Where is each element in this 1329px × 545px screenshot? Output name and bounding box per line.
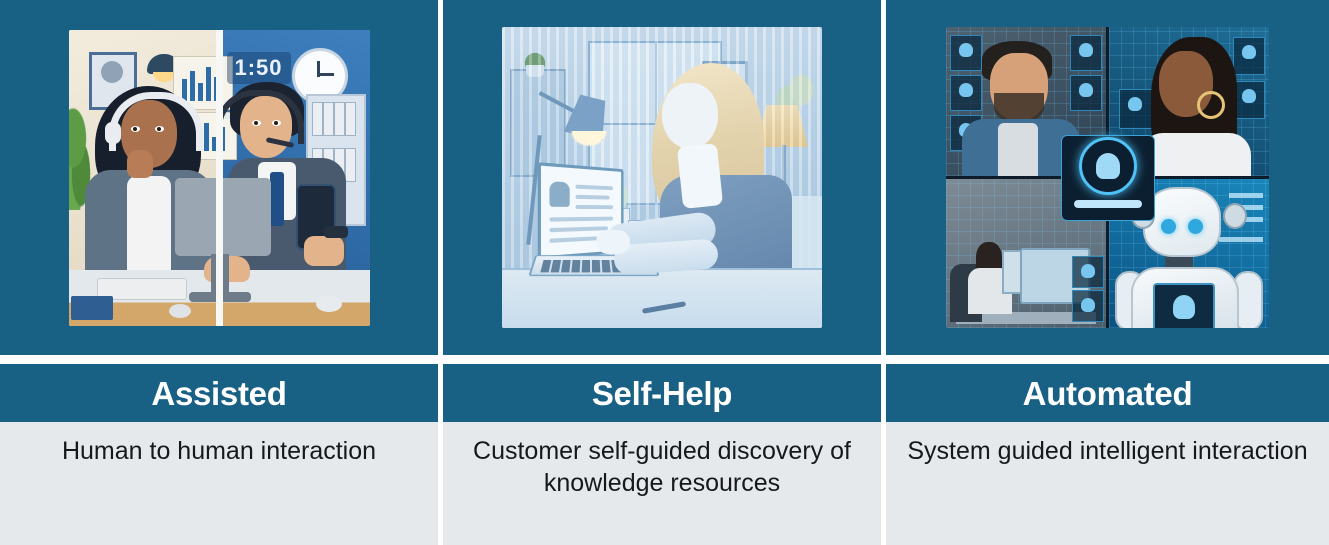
description-band-automated: System guided intelligent interaction: [886, 422, 1329, 545]
desk-lamp-light: [570, 131, 608, 147]
column-description-automated: System guided intelligent interaction: [898, 436, 1317, 468]
earring-icon: [1197, 91, 1225, 119]
agent-man-hand: [304, 236, 344, 266]
column-title-automated: Automated: [1023, 377, 1193, 410]
robot-chest-display: [1153, 283, 1215, 328]
column-description-self-help: Customer self-guided discovery of knowle…: [455, 436, 869, 499]
column-title-assisted: Assisted: [151, 377, 286, 410]
row-divider: [886, 355, 1329, 364]
title-band-self-help: Self-Help: [443, 364, 881, 422]
agent-man-tie: [270, 172, 284, 226]
title-band-assisted: Assisted: [0, 364, 438, 422]
column-description-assisted: Human to human interaction: [12, 436, 426, 468]
image-panel-self-help: [443, 0, 881, 355]
column-automated: Automated System guided intelligent inte…: [886, 0, 1329, 545]
holographic-user-hud: [1061, 135, 1155, 221]
hud-progress-bar: [1074, 200, 1142, 208]
profile-thumbnail-7: [1233, 81, 1265, 119]
comparison-table: 1:50 TECHNICAL SUPPORT: [0, 0, 1329, 545]
title-band-automated: Automated: [886, 364, 1329, 422]
automated-ai-illustration: [946, 27, 1269, 328]
profile-thumbnail-8: [1072, 256, 1104, 288]
image-panel-assisted: 1:50 TECHNICAL SUPPORT: [0, 0, 438, 355]
customer-face: [662, 83, 718, 149]
profile-thumbnail-2: [950, 75, 982, 111]
row-divider: [0, 355, 438, 364]
user-woman-body: [1141, 133, 1251, 176]
image-panel-automated: [886, 0, 1329, 355]
profile-thumbnail-1: [950, 35, 982, 71]
screen-avatar-icon: [549, 181, 569, 207]
column-self-help: Self-Help Customer self-guided discovery…: [443, 0, 881, 545]
profile-thumbnail-9: [1072, 290, 1104, 322]
assisted-support-illustration: 1:50 TECHNICAL SUPPORT: [69, 30, 370, 326]
customer-blouse: [677, 143, 723, 209]
self-help-illustration: [502, 27, 822, 328]
robot-head-icon: [1143, 187, 1221, 257]
split-divider: [216, 30, 223, 326]
profile-thumbnail-5: [1070, 75, 1102, 111]
robot-ear-right: [1223, 203, 1247, 229]
column-container: 1:50 TECHNICAL SUPPORT: [0, 0, 1329, 545]
user-man-shirt: [998, 123, 1038, 176]
headset-earcup: [105, 122, 121, 144]
hud-user-avatar-icon: [1096, 153, 1120, 179]
mouse-icon: [169, 304, 191, 318]
mouse-icon-2: [316, 296, 342, 312]
desk-surface: [502, 268, 822, 328]
agent-woman-hand: [127, 150, 153, 178]
profile-thumbnail-6: [1233, 37, 1265, 75]
books-stack: [71, 296, 113, 320]
column-title-self-help: Self-Help: [592, 377, 732, 410]
description-band-self-help: Customer self-guided discovery of knowle…: [443, 422, 881, 545]
column-assisted: 1:50 TECHNICAL SUPPORT: [0, 0, 438, 545]
row-divider: [443, 355, 881, 364]
profile-thumbnail-4: [1070, 35, 1102, 71]
call-timer-display: 1:50: [227, 52, 291, 84]
description-band-assisted: Human to human interaction: [0, 422, 438, 545]
wristwatch-icon: [324, 226, 348, 238]
customer-hand: [596, 230, 630, 254]
